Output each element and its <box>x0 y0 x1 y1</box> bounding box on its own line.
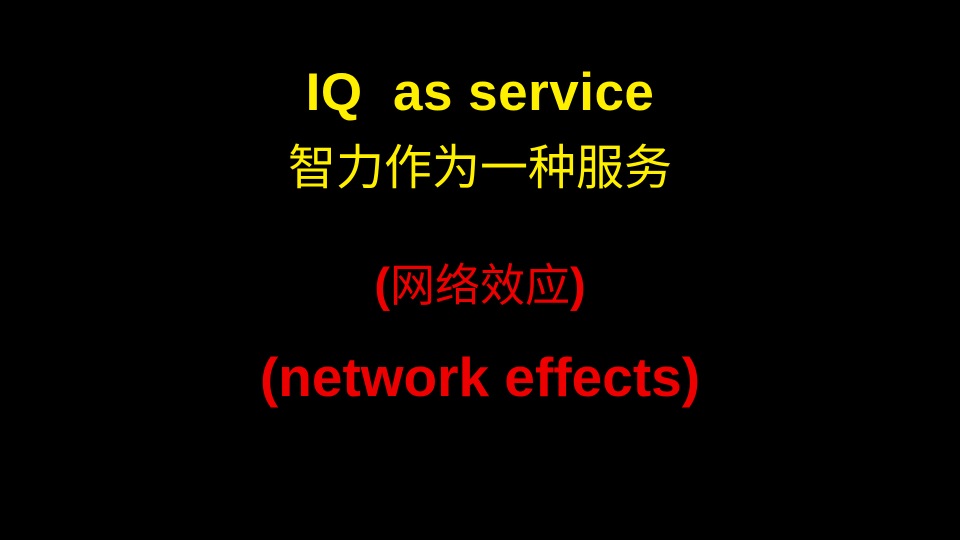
presentation-slide: IQ as service 智力作为一种服务 (网络效应) (network e… <box>0 0 960 540</box>
slide-subtitle-chinese-text: 网络效应 <box>390 259 570 312</box>
open-paren-chinese: ( <box>374 258 390 311</box>
slide-title-english: IQ as service <box>0 66 960 119</box>
slide-title-chinese: 智力作为一种服务 <box>0 144 960 192</box>
slide-subtitle-english: (network effects) <box>0 350 960 405</box>
close-paren-chinese: ) <box>570 258 586 311</box>
slide-subtitle-chinese: (网络效应) <box>0 261 960 308</box>
